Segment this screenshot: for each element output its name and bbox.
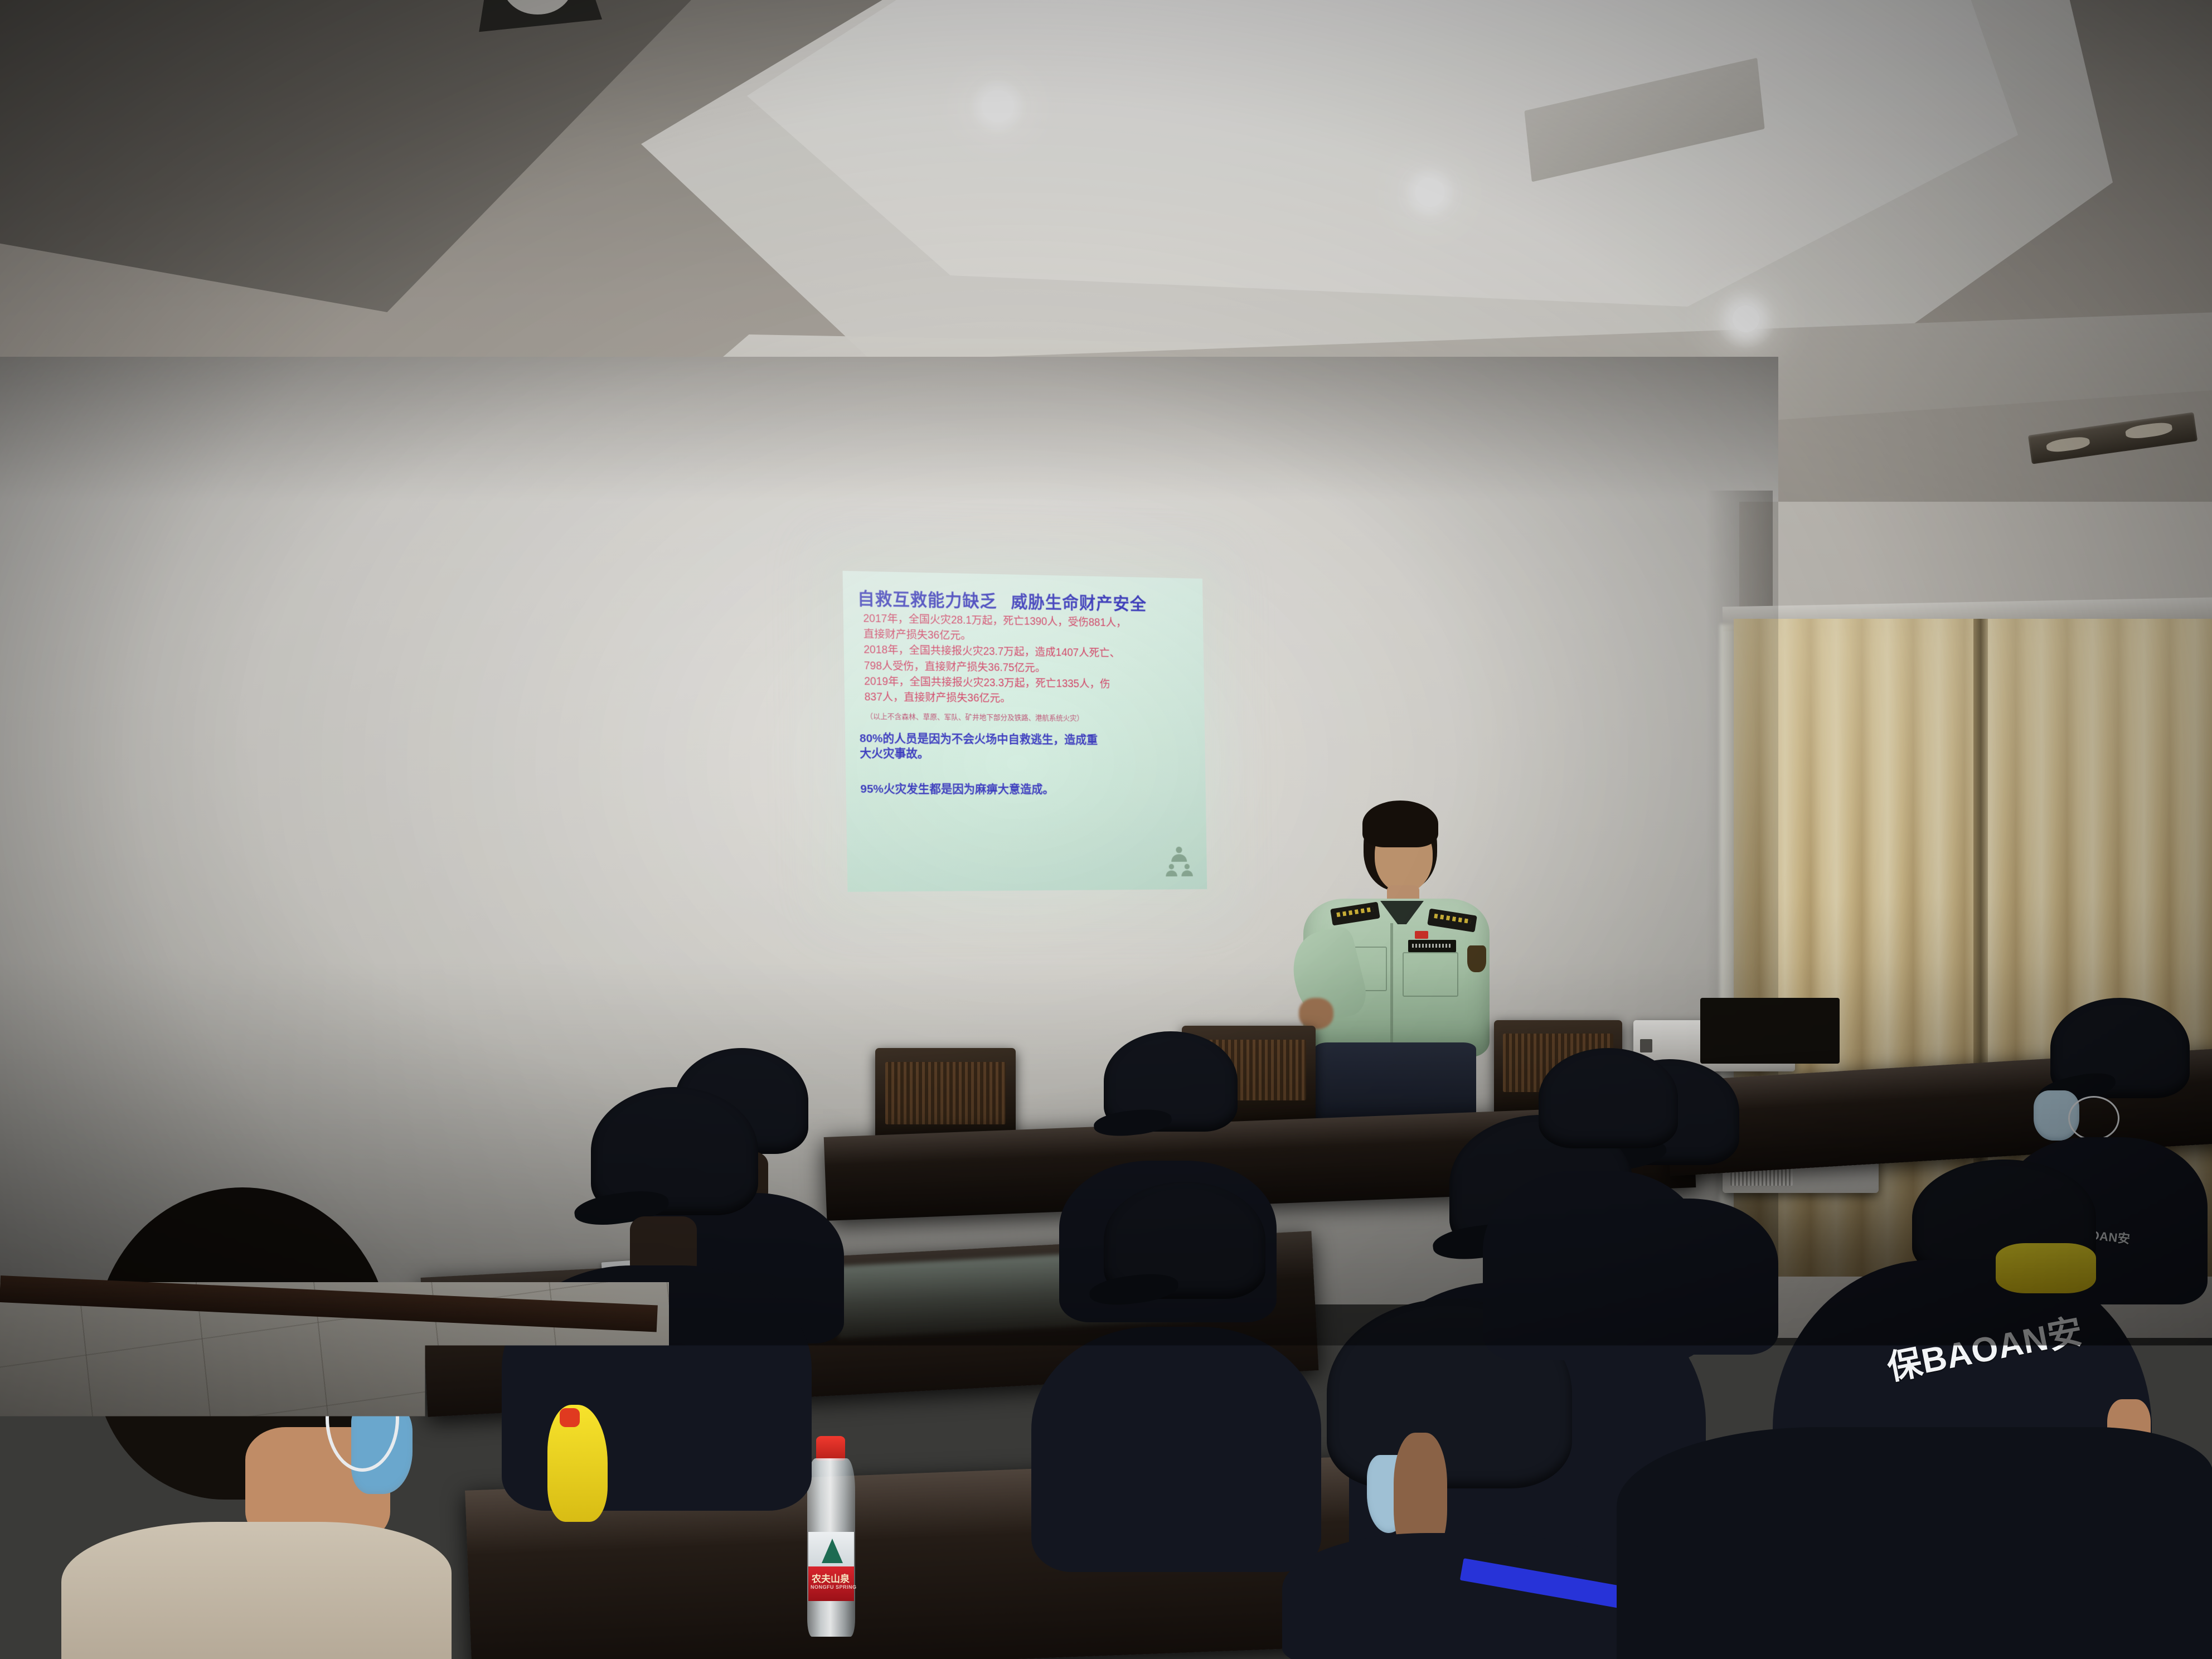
slide-surface: 自救互救能力缺乏威胁生命财产安全 2017年，全国火灾28.1万起，死亡1390… (843, 571, 1207, 892)
guard-armband (1996, 1243, 2096, 1293)
guard-torso (1483, 1171, 1706, 1360)
audience-guard-mid-right (1472, 1048, 1706, 1360)
downlight-core (1415, 178, 1444, 207)
slide-watermark-icon (1165, 845, 1194, 879)
case-backdrop-bag (1700, 998, 1840, 1064)
guard-cap-brim (1088, 1270, 1180, 1308)
bottle-brand-cn: 农夫山泉 (812, 1571, 850, 1585)
slide-stat-line: 837人，直接财产损失36亿元。 (859, 691, 1195, 708)
presenter-name-tag (1408, 940, 1456, 952)
presenter-button-placket (1390, 923, 1393, 1052)
slide-highlight-95: 95%火灾发生都是因为麻痹大意造成。 (860, 782, 1196, 797)
downlight-icon-1 (964, 72, 1031, 139)
bottle-brand-en: NONGFU SPRING (811, 1584, 857, 1590)
slide-stat-line: 798人受伤，直接财产损失36.75亿元。 (858, 659, 1195, 677)
slide-highlight-80: 80%的人员是因为不会火场中自救逃生，造成重 大火灾事故。 (860, 731, 1196, 762)
guard-mask-strap (2068, 1096, 2119, 1141)
presenter-hair (1362, 801, 1438, 847)
audience-guard-bottom-right (1617, 1427, 2212, 1659)
downlight-core (1733, 305, 1759, 332)
guard-cap (1539, 1048, 1678, 1148)
projected-slide: 自救互救能力缺乏威胁生命财产安全 2017年，全国火灾28.1万起，死亡1390… (843, 571, 1207, 892)
bottle-cap (816, 1436, 845, 1461)
slide-title-part2: 威胁生命财产安全 (1011, 592, 1147, 614)
guard-torso (1031, 1327, 1321, 1572)
downlight-icon-3 (1717, 290, 1775, 348)
lecture-room-photo: 自救互救能力缺乏威胁生命财产安全 2017年，全国火灾28.1万起，死亡1390… (0, 0, 2212, 1659)
presenter-pocket-right (1403, 952, 1458, 997)
slide-footnote: （以上不含森林、草原、军队、矿井地下部分及铁路、港航系统火灾） (866, 712, 1195, 723)
floor-tile-grid (0, 1282, 669, 1659)
slide-stat-line: 2019年，全国共接报火灾23.3万起，死亡1335人，伤 (858, 675, 1195, 692)
downlight-icon-2 (1399, 162, 1461, 223)
presenter-sleeve-patch (1467, 945, 1486, 972)
audience-guard-mid-left (1031, 1182, 1321, 1572)
speaker-dome (503, 0, 573, 14)
slide-highlight-80-line2: 大火灾事故。 (860, 747, 929, 760)
chair-slats (885, 1062, 1006, 1124)
presenter-hand (1299, 998, 1333, 1029)
slide-title: 自救互救能力缺乏威胁生命财产安全 (857, 590, 1194, 614)
slide-title-part1: 自救互救能力缺乏 (857, 589, 997, 611)
slide-highlight-80-line1: 80%的人员是因为不会火场中自救逃生，造成重 (860, 732, 1098, 746)
downlight-core (982, 90, 1014, 122)
presenter-flag-pin (1415, 931, 1428, 939)
guard-torso (1617, 1427, 2212, 1659)
